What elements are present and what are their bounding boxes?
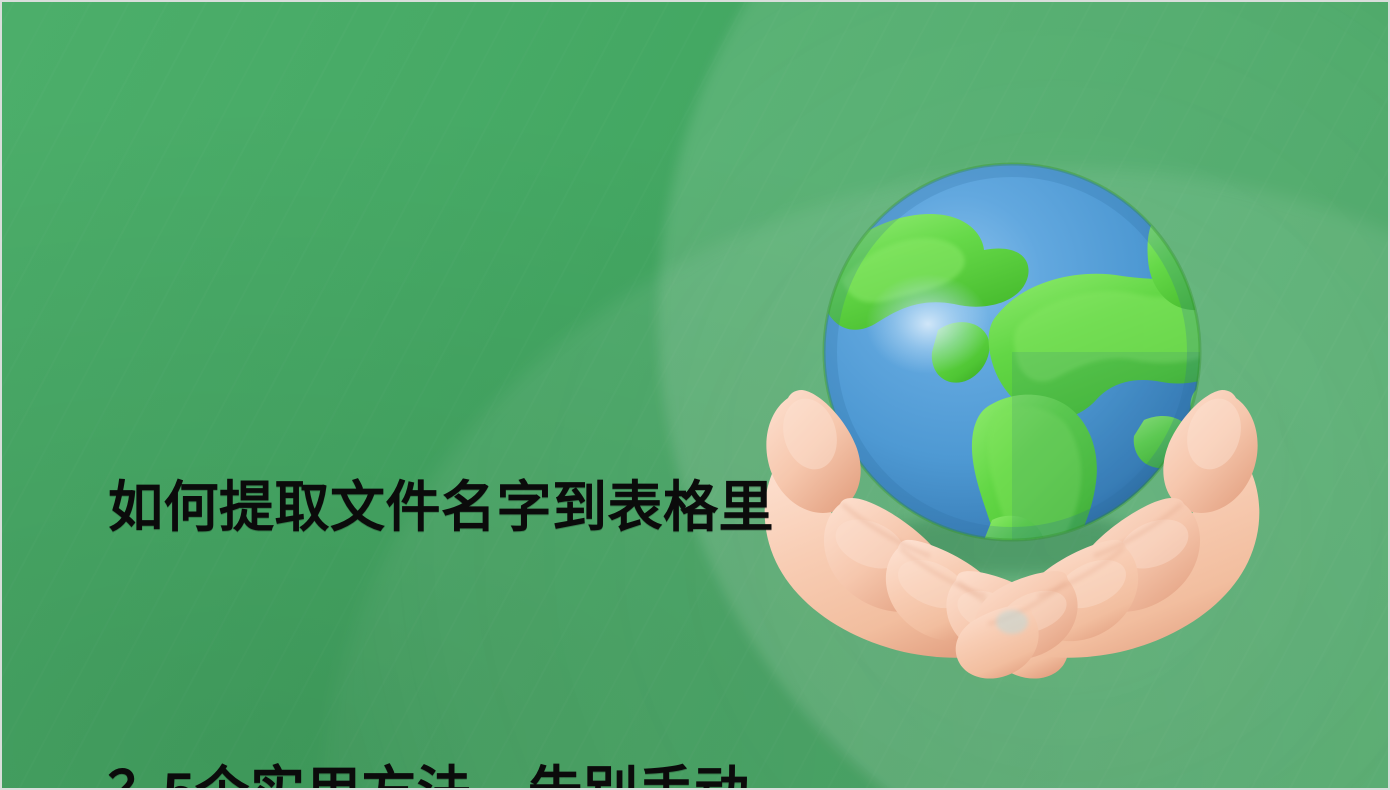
headline-line-2: ？5个实用方法，告别手动 [108,745,888,790]
cover-headline: 如何提取文件名字到表格里 ？5个实用方法，告别手动 复制粘贴 [108,270,888,790]
cover-canvas: 如何提取文件名字到表格里 ？5个实用方法，告别手动 复制粘贴 [0,0,1390,790]
headline-line-1: 如何提取文件名字到表格里 [108,460,888,555]
